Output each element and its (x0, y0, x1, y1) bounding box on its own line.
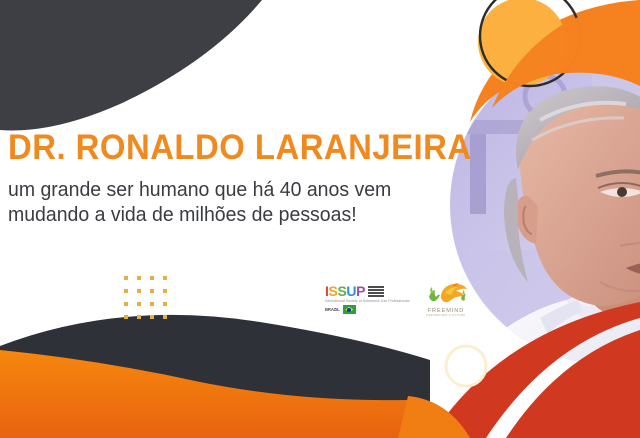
grid-dot (150, 276, 154, 280)
freemind-bird-icon (423, 281, 469, 307)
grid-dot (163, 289, 167, 293)
brazil-flag-icon (343, 305, 356, 314)
grid-dot (163, 315, 167, 319)
freemind-logo: FREEMIND PREVENINDO O FUTURO (423, 281, 469, 317)
grid-dot (150, 302, 154, 306)
grid-dot (137, 289, 141, 293)
issup-chapter: BRAZIL (325, 307, 340, 312)
issup-tagline: International Society of Substance Use P… (325, 299, 410, 303)
grid-dot (150, 289, 154, 293)
subtitle-line-1: um grande ser humano que há 40 anos vem (8, 177, 426, 202)
grid-dot (124, 302, 128, 306)
logo-row: I S S U P International Society of Subst… (322, 281, 469, 317)
top-left-dark-blob (0, 0, 262, 130)
grid-dot (137, 315, 141, 319)
grid-dot (150, 315, 154, 319)
grid-dot (124, 289, 128, 293)
issup-letter: S (329, 284, 338, 298)
dot-grid (124, 276, 167, 319)
issup-tagline-bars (368, 286, 384, 297)
grid-dot (163, 276, 167, 280)
issup-wordmark: I S S U P (325, 284, 365, 298)
subtitle: um grande ser humano que há 40 anos vem … (8, 177, 426, 227)
promotional-banner: DR. RONALDO LARANJEIRA um grande ser hum… (0, 0, 640, 438)
subtitle-line-2: mudando a vida de milhões de pessoas! (8, 202, 426, 227)
issup-logo: I S S U P International Society of Subst… (322, 282, 413, 316)
grid-dot (124, 276, 128, 280)
issup-letter: P (356, 284, 365, 298)
freemind-tagline: PREVENINDO O FUTURO (426, 314, 465, 317)
grid-dot (137, 302, 141, 306)
grid-dot (124, 315, 128, 319)
headline-block: DR. RONALDO LARANJEIRA um grande ser hum… (8, 128, 448, 227)
page-title: DR. RONALDO LARANJEIRA (8, 128, 422, 168)
issup-letter: S (337, 284, 346, 298)
bottom-right-cream-ring-outline (446, 346, 486, 386)
grid-dot (163, 302, 167, 306)
grid-dot (137, 276, 141, 280)
issup-letter: U (346, 284, 356, 298)
